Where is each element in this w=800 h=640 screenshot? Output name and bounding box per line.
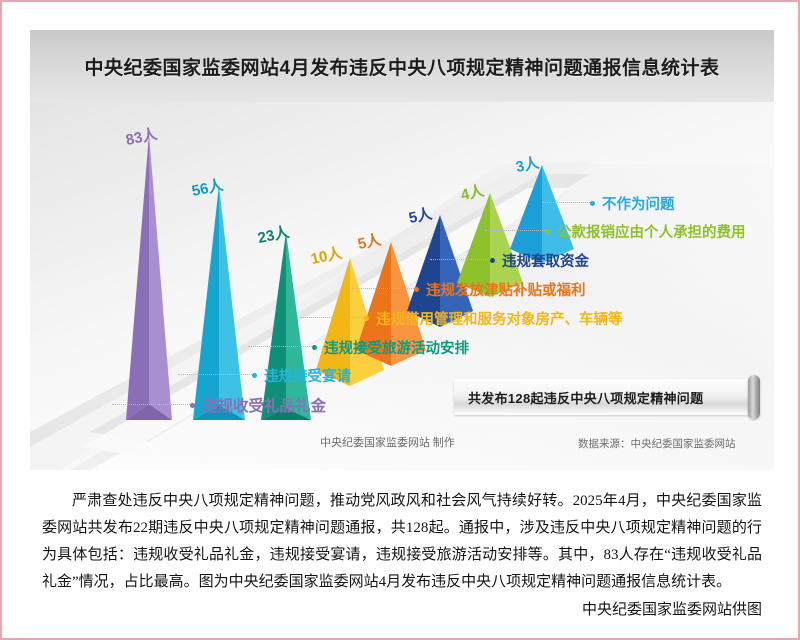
label-text-allowances: 违规发放津贴补贴或福利 (426, 279, 586, 300)
label-funds: 违规套取资金 (490, 250, 589, 271)
bar-violation-inaction (508, 165, 576, 263)
label-text-gifts: 违规收受礼品礼金 (202, 394, 326, 416)
bar-violation-gifts (124, 134, 174, 420)
label-reimbursement: 公款报销应由个人承担的费用 (545, 221, 746, 242)
article-paragraph: 严肃查处违反中央八项规定精神问题，推动党风政风和社会风气持续好转。2025年4月… (42, 488, 762, 596)
label-dot-travel (312, 345, 317, 350)
bar-violation-banquets (190, 185, 248, 420)
image-frame: 中央纪委国家监委网站4月发布违反中央八项规定精神问题通报信息统计表 (0, 0, 800, 640)
label-borrowing: 违规借用管理和服务对象房产、车辆等 (364, 308, 623, 329)
leader-line-reimbursement (485, 230, 547, 231)
label-text-borrowing: 违规借用管理和服务对象房产、车辆等 (376, 308, 623, 329)
label-text-reimbursement: 公款报销应由个人承担的费用 (557, 221, 746, 242)
label-inaction: 不作为问题 (590, 193, 675, 214)
label-dot-inaction (590, 201, 595, 206)
article-body: 严肃查处违反中央八项规定精神问题，推动党风政风和社会风气持续好转。2025年4月… (42, 488, 762, 596)
label-text-inaction: 不作为问题 (602, 193, 675, 214)
leader-line-inaction (542, 202, 592, 203)
label-text-travel: 违规接受旅游活动安排 (324, 337, 469, 358)
total-banner-text: 共发布128起违反中央八项规定精神问题 (468, 379, 703, 415)
label-banquets: 违规接受宴请 (252, 365, 351, 386)
label-allowances: 违规发放津贴补贴或福利 (414, 279, 586, 300)
label-gifts: 违规收受礼品礼金 (190, 394, 326, 416)
infographic-title: 中央纪委国家监委网站4月发布违反中央八项规定精神问题通报信息统计表 (30, 30, 774, 102)
producer-credit: 中央纪委国家监委网站 制作 (320, 434, 455, 450)
label-text-banquets: 违规接受宴请 (264, 365, 351, 386)
label-dot-allowances (414, 287, 419, 292)
leader-line-borrowing (300, 317, 366, 318)
total-banner: 共发布128起违反中央八项规定精神问题 (454, 379, 756, 415)
leader-line-travel (248, 346, 314, 347)
source-credit: 数据来源：中央纪委国家监委网站 (578, 436, 736, 451)
bar-violation-travel (258, 232, 314, 420)
label-dot-banquets (252, 373, 257, 378)
label-dot-borrowing (364, 316, 369, 321)
leader-line-allowances (352, 288, 416, 289)
label-travel: 违规接受旅游活动安排 (312, 337, 469, 358)
label-text-funds: 违规套取资金 (502, 250, 589, 271)
infographic-card: 中央纪委国家监委网站4月发布违反中央八项规定精神问题通报信息统计表 (30, 30, 774, 470)
leader-line-gifts (112, 404, 192, 405)
scroll-roller (748, 375, 760, 419)
leader-line-funds (430, 259, 492, 260)
label-dot-gifts (190, 403, 195, 408)
article-signature: 中央纪委国家监委网站供图 (42, 598, 762, 619)
label-dot-reimbursement (545, 229, 550, 234)
leader-line-banquets (178, 374, 254, 375)
label-dot-funds (490, 258, 495, 263)
